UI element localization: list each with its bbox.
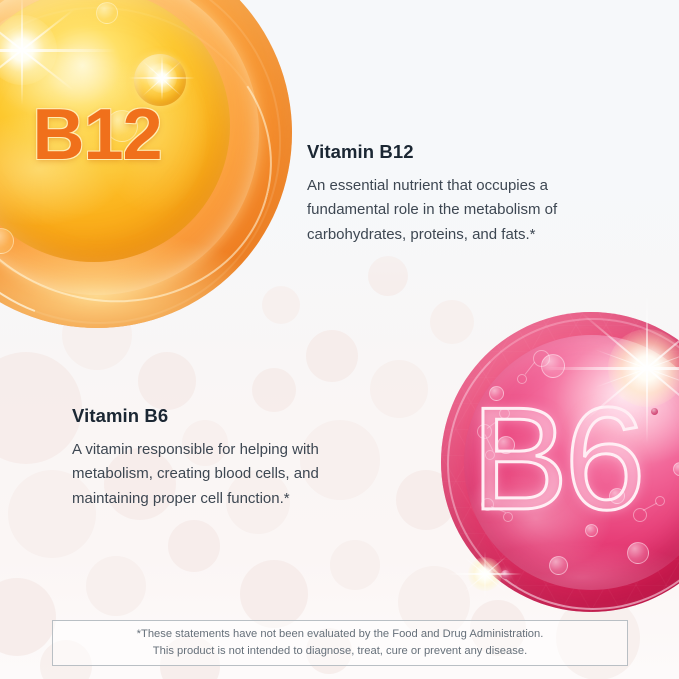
b6-bubble-6 (549, 556, 568, 575)
b6-molecule-node-9 (655, 496, 665, 506)
b6-bubble-5 (627, 542, 649, 564)
b6-bubble-solid-1 (501, 570, 510, 579)
b6-label: B6 (471, 392, 642, 526)
vitamin-b6-text-block: Vitamin B6 A vitamin responsible for hel… (72, 405, 372, 511)
b12-label: B12 (0, 94, 292, 176)
vitamin-b12-description: An essential nutrient that occupies a fu… (307, 174, 607, 247)
b6-bubble-1 (541, 354, 565, 378)
vitamin-b6-orb: B6 (441, 312, 679, 612)
vitamin-b6-description: A vitamin responsible for helping with m… (72, 438, 372, 511)
disclaimer-line-2: This product is not intended to diagnose… (153, 643, 527, 660)
vitamin-b12-text-block: Vitamin B12 An essential nutrient that o… (307, 141, 607, 247)
disclaimer-box: *These statements have not been evaluate… (52, 620, 628, 666)
disclaimer-line-1: *These statements have not been evaluate… (137, 626, 544, 643)
b6-bubble-solid-2 (651, 408, 658, 415)
vitamin-b12-orb: B12 (0, 0, 292, 328)
vitamin-b6-heading: Vitamin B6 (72, 405, 372, 427)
infographic-page: B12 (0, 0, 679, 679)
vitamin-b12-heading: Vitamin B12 (307, 141, 607, 163)
b12-bubble-ghost-3 (96, 2, 118, 24)
